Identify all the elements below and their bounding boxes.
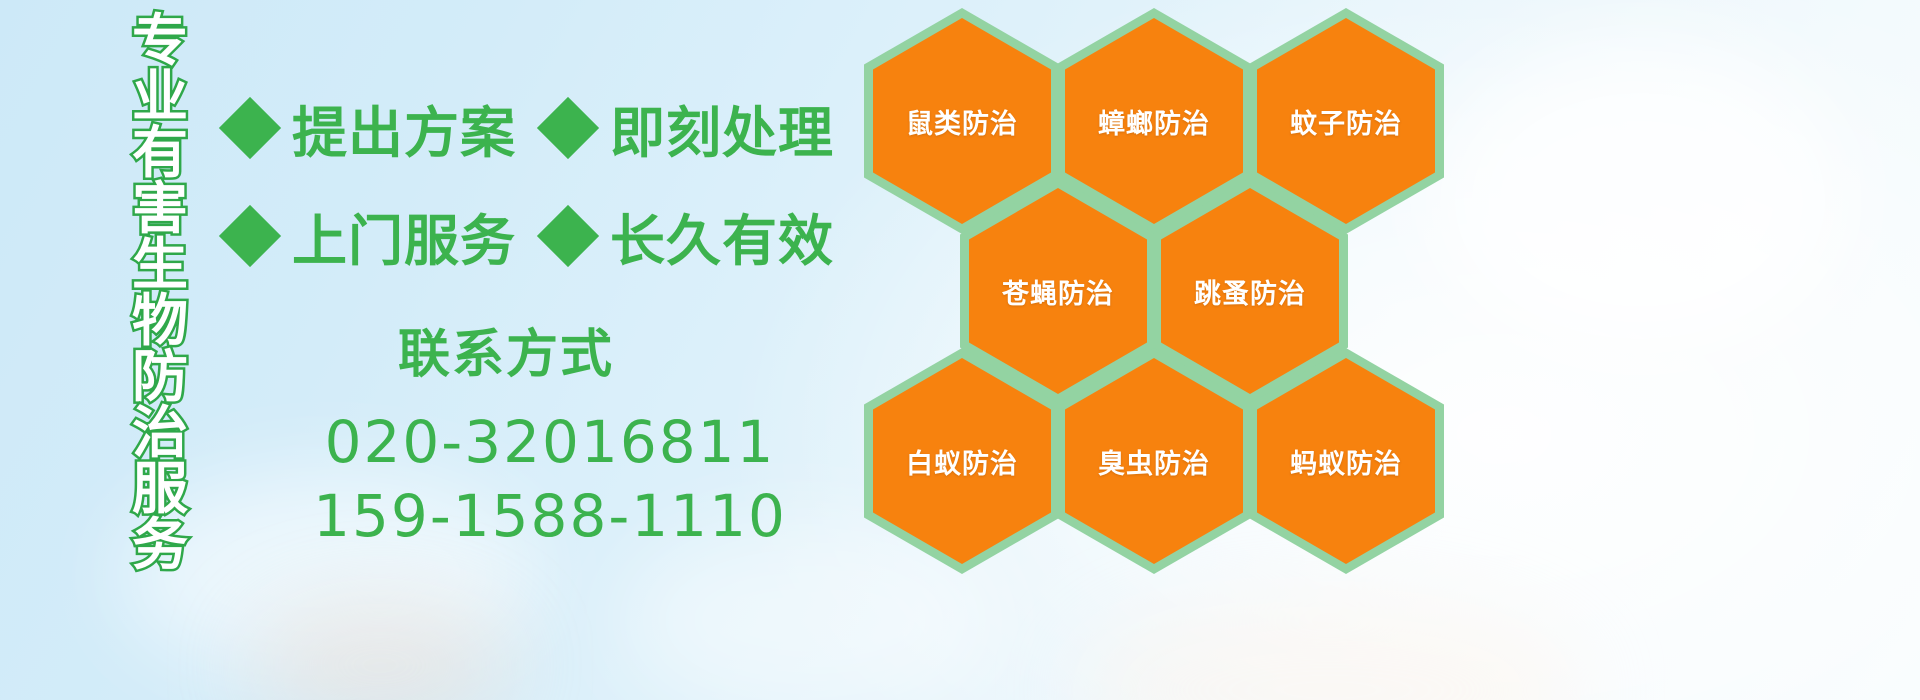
feature-row: 提出方案 即刻处理 [228, 88, 834, 168]
service-honeycomb: 鼠类防治 蟑螂防治 蚊子防治 苍蝇防治 跳蚤防治 白蚁防治 [858, 0, 1478, 620]
feature-label: 提出方案 [292, 88, 516, 168]
vertical-headline: 专 业 有 害 生 物 防 治 服 务 [104, 14, 216, 574]
hex-label: 蚂蚁防治 [1248, 348, 1444, 574]
vertical-headline-char: 专 [132, 14, 188, 70]
vertical-headline-char: 物 [132, 294, 188, 350]
diamond-icon [537, 205, 599, 267]
feature-row: 上门服务 长久有效 [228, 196, 834, 276]
hex-cell-termite[interactable]: 白蚁防治 [864, 348, 1060, 574]
feature-label: 上门服务 [292, 196, 516, 276]
feature-item: 即刻处理 [546, 88, 834, 168]
contact-heading: 联系方式 [212, 312, 800, 387]
vertical-headline-char: 服 [132, 462, 188, 518]
feature-label: 即刻处理 [610, 88, 834, 168]
diamond-icon [219, 97, 281, 159]
vertical-headline-char: 务 [132, 518, 188, 574]
vertical-headline-char: 业 [132, 70, 188, 126]
feature-item: 上门服务 [228, 196, 516, 276]
hex-cell-bedbug[interactable]: 臭虫防治 [1056, 348, 1252, 574]
vertical-headline-char: 生 [132, 238, 188, 294]
hex-label: 白蚁防治 [864, 348, 1060, 574]
background-glow-e [250, 600, 510, 700]
vertical-headline-char: 有 [132, 126, 188, 182]
promo-banner: 专 业 有 害 生 物 防 治 服 务 提出方案 即刻处理 上门服务 长久有效 [0, 0, 1920, 700]
hex-cell-ant[interactable]: 蚂蚁防治 [1248, 348, 1444, 574]
background-glow-c [1430, 40, 1850, 360]
vertical-headline-char: 防 [132, 350, 188, 406]
feature-item: 提出方案 [228, 88, 516, 168]
feature-item: 长久有效 [546, 196, 834, 276]
contact-phone-landline[interactable]: 020-32016811 [300, 405, 800, 479]
vertical-headline-char: 治 [132, 406, 188, 462]
vertical-headline-char: 害 [132, 182, 188, 238]
feature-label: 长久有效 [610, 196, 834, 276]
diamond-icon [219, 205, 281, 267]
diamond-icon [537, 97, 599, 159]
contact-block: 联系方式 020-32016811 159-1588-1110 [300, 312, 800, 553]
hex-label: 臭虫防治 [1056, 348, 1252, 574]
contact-phone-mobile[interactable]: 159-1588-1110 [300, 479, 800, 553]
